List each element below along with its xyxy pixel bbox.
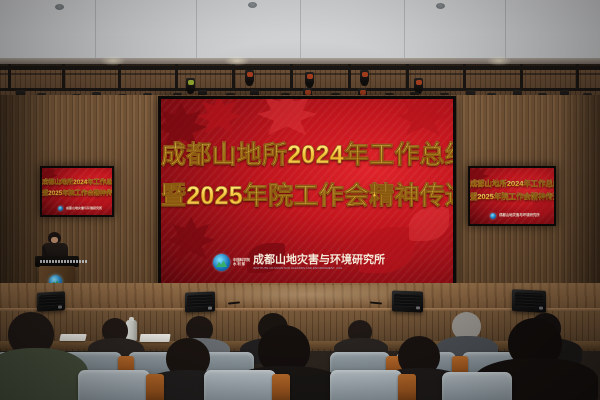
recessed-ceiling-light-icon	[55, 4, 64, 10]
recessed-ceiling-light-icon	[436, 3, 445, 9]
institute-logo-on-right-screen: 成都山地灾害与环境研究所	[490, 213, 540, 219]
recessed-ceiling-light-icon	[248, 2, 257, 8]
left-screen-title-line2: 暨2025年院工作会精神传达	[42, 188, 112, 197]
institute-logo-prefix2: 水 利 部	[233, 263, 250, 266]
stage-light-icon	[245, 70, 254, 83]
auditorium-seat[interactable]	[204, 370, 276, 400]
right-screen-title-line1: 成都山地所2024年工作总结	[470, 179, 554, 189]
truss-post	[8, 64, 11, 91]
main-screen-title-line2: 暨2025年院工作会精神传达	[161, 176, 453, 212]
truss-post	[232, 64, 235, 91]
light-glow	[100, 56, 126, 66]
lighting-truss-bottom-rail	[0, 73, 600, 75]
truss-post	[175, 64, 178, 91]
truss-post	[348, 64, 351, 91]
auditorium-seat[interactable]	[78, 370, 150, 400]
light-glow	[486, 56, 512, 66]
stage-light-icon	[186, 78, 195, 91]
stage-monitor-speaker	[512, 289, 546, 313]
main-screen-title-line1: 成都山地所2024年工作总结	[161, 135, 453, 171]
person-shoulders	[0, 348, 88, 400]
stage-light-icon	[360, 70, 369, 83]
truss-post	[118, 64, 121, 91]
stage-monitor-speaker	[392, 290, 423, 312]
seat-armrest	[146, 374, 164, 400]
light-glow	[224, 56, 250, 66]
institute-logo-name-en: INSTITUTE OF MOUNTAIN HAZARDS AND ENVIRO…	[253, 267, 385, 270]
right-led-screen[interactable]: 成都山地所2024年工作总结 暨2025年院工作会精神传达 成都山地灾害与环境研…	[468, 166, 556, 226]
truss-post	[576, 64, 579, 91]
ceiling-panel	[0, 0, 600, 62]
stage-monitor-speaker	[37, 291, 65, 311]
seat-armrest	[398, 374, 416, 400]
institute-emblem-icon	[490, 213, 496, 219]
document-on-desk	[59, 334, 86, 341]
seat-armrest	[272, 374, 290, 400]
institute-logo-name: 成都山地灾害与环境研究所	[253, 255, 385, 266]
institute-emblem-icon	[213, 254, 230, 271]
main-led-screen[interactable]: 成都山地所2024年工作总结 暨2025年院工作会精神传达 中国科学院 水 利 …	[158, 96, 456, 288]
lighting-truss-upper-rail	[0, 66, 600, 70]
stage-light-icon	[305, 72, 314, 85]
lighting-truss-lower-rail	[0, 64, 600, 66]
truss-post	[463, 64, 466, 91]
podium-control-keys	[40, 260, 87, 263]
right-screen-title-line2: 暨2025年院工作会精神传达	[470, 192, 554, 202]
institute-emblem-icon	[58, 206, 63, 211]
stage-light-icon	[414, 78, 423, 91]
truss-post	[62, 64, 65, 91]
auditorium-seat[interactable]	[330, 370, 402, 400]
institute-logo-on-screen: 中国科学院 水 利 部 成都山地灾害与环境研究所 INSTITUTE OF MO…	[213, 254, 385, 271]
stage-monitor-speaker	[185, 291, 215, 312]
document-on-desk	[139, 334, 170, 342]
conference-hall-photo: 成都山地所2024年工作总结 暨2025年院工作会精神传达 中国科学院 水 利 …	[0, 0, 600, 400]
institute-logo-on-left-screen: 成都山地灾害与环境研究所	[58, 206, 102, 211]
truss-post	[406, 64, 409, 91]
wall-shadow-right	[560, 95, 600, 310]
lighting-truss-mid-rail	[0, 88, 600, 91]
truss-post	[290, 64, 293, 91]
institute-logo-name-small: 成都山地灾害与环境研究所	[499, 214, 540, 217]
left-led-screen[interactable]: 成都山地所2024年工作总结 暨2025年院工作会精神传达 成都山地灾害与环境研…	[40, 166, 114, 217]
truss-post	[520, 64, 523, 91]
institute-logo-name-small: 成都山地灾害与环境研究所	[66, 207, 102, 210]
left-screen-title-line1: 成都山地所2024年工作总结	[42, 177, 112, 186]
auditorium-seat[interactable]	[442, 372, 512, 400]
